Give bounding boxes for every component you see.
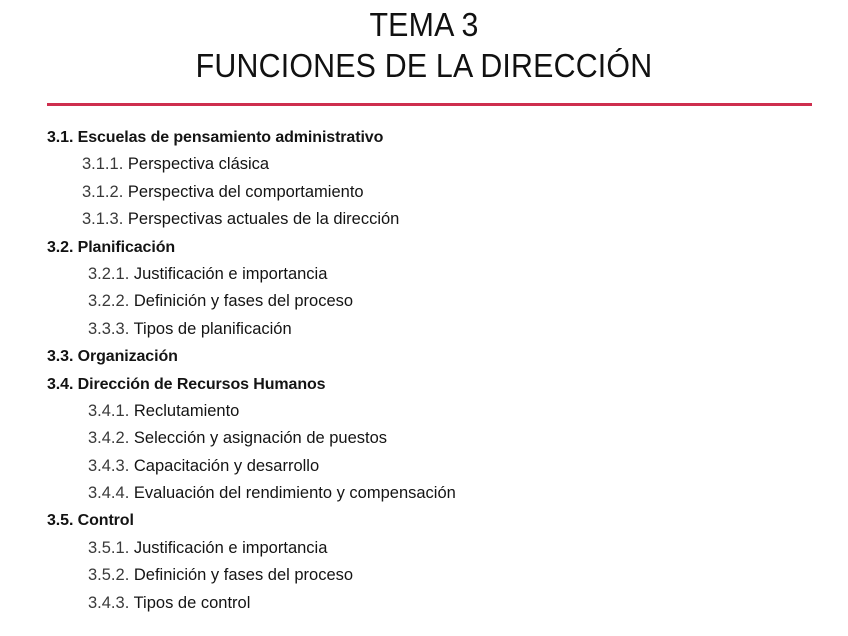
- outline-item: 3.2.1. Justificación e importancia: [0, 261, 848, 288]
- outline-item: 3.3. Organización: [0, 343, 848, 370]
- outline-item-label: Justificación e importancia: [129, 539, 327, 557]
- outline-item: 3.1.3. Perspectivas actuales de la direc…: [0, 206, 848, 233]
- outline-item-label: Tipos de planificación: [129, 320, 291, 338]
- outline-item-number: 3.1.: [47, 129, 73, 146]
- outline-item-label: Organización: [73, 348, 178, 365]
- slide-canvas: TEMA 3 FUNCIONES DE LA DIRECCIÓN 3.1. Es…: [0, 0, 848, 636]
- outline-item-label: Tipos de control: [129, 594, 250, 612]
- outline-item-label: Definición y fases del proceso: [129, 566, 353, 584]
- outline-item-number: 3.1.1.: [82, 155, 123, 173]
- outline-item-label: Perspectiva del comportamiento: [123, 183, 363, 201]
- outline-item: 3.3.3. Tipos de planificación: [0, 316, 848, 343]
- outline-item: 3.4.3. Tipos de control: [0, 590, 848, 617]
- outline-item-label: Dirección de Recursos Humanos: [73, 376, 325, 393]
- outline-item: 3.5.2. Definición y fases del proceso: [0, 562, 848, 589]
- outline-item: 3.4.2. Selección y asignación de puestos: [0, 425, 848, 452]
- slide-title: TEMA 3 FUNCIONES DE LA DIRECCIÓN: [0, 4, 848, 87]
- title-divider-rule: [47, 103, 812, 106]
- outline-item-number: 3.3.: [47, 348, 73, 365]
- outline-item-number: 3.5.: [47, 512, 73, 529]
- outline-item-number: 3.4.: [47, 376, 73, 393]
- title-line-secondary: FUNCIONES DE LA DIRECCIÓN: [34, 45, 814, 87]
- outline-item: 3.4. Dirección de Recursos Humanos: [0, 371, 848, 398]
- outline-item-number: 3.5.2.: [88, 566, 129, 584]
- outline-item-label: Definición y fases del proceso: [129, 292, 353, 310]
- outline-item-label: Control: [73, 512, 134, 529]
- outline-item-label: Perspectiva clásica: [123, 155, 269, 173]
- outline-item: 3.2. Planificación: [0, 234, 848, 261]
- outline-item-number: 3.4.3.: [88, 594, 129, 612]
- outline-item-number: 3.1.2.: [82, 183, 123, 201]
- outline-item-label: Selección y asignación de puestos: [129, 429, 387, 447]
- outline-item-number: 3.4.1.: [88, 402, 129, 420]
- outline-item-label: Capacitación y desarrollo: [129, 457, 319, 475]
- outline-item: 3.4.4. Evaluación del rendimiento y comp…: [0, 480, 848, 507]
- outline-item-number: 3.3.3.: [88, 320, 129, 338]
- outline-item: 3.4.1. Reclutamiento: [0, 398, 848, 425]
- outline-item-number: 3.2.2.: [88, 292, 129, 310]
- outline-item-number: 3.5.1.: [88, 539, 129, 557]
- outline-item-label: Reclutamiento: [129, 402, 239, 420]
- outline-item: 3.4.3. Capacitación y desarrollo: [0, 453, 848, 480]
- outline-item: 3.1.2. Perspectiva del comportamiento: [0, 179, 848, 206]
- outline-item-number: 3.4.4.: [88, 484, 129, 502]
- outline-item-number: 3.2.1.: [88, 265, 129, 283]
- outline-item-number: 3.1.3.: [82, 210, 123, 228]
- outline-item-label: Escuelas de pensamiento administrativo: [73, 129, 383, 146]
- outline-item: 3.1. Escuelas de pensamiento administrat…: [0, 124, 848, 151]
- outline-item-label: Perspectivas actuales de la dirección: [123, 210, 399, 228]
- outline-item-number: 3.4.2.: [88, 429, 129, 447]
- outline-item-label: Justificación e importancia: [129, 265, 327, 283]
- outline-item-label: Planificación: [73, 239, 175, 256]
- outline-item: 3.5.1. Justificación e importancia: [0, 535, 848, 562]
- title-line-primary: TEMA 3: [34, 4, 814, 45]
- outline-item: 3.2.2. Definición y fases del proceso: [0, 288, 848, 315]
- outline-item: 3.5. Control: [0, 507, 848, 534]
- outline-item-number: 3.2.: [47, 239, 73, 256]
- outline-list: 3.1. Escuelas de pensamiento administrat…: [0, 124, 848, 617]
- outline-item-label: Evaluación del rendimiento y compensació…: [129, 484, 456, 502]
- outline-item: 3.1.1. Perspectiva clásica: [0, 151, 848, 178]
- outline-item-number: 3.4.3.: [88, 457, 129, 475]
